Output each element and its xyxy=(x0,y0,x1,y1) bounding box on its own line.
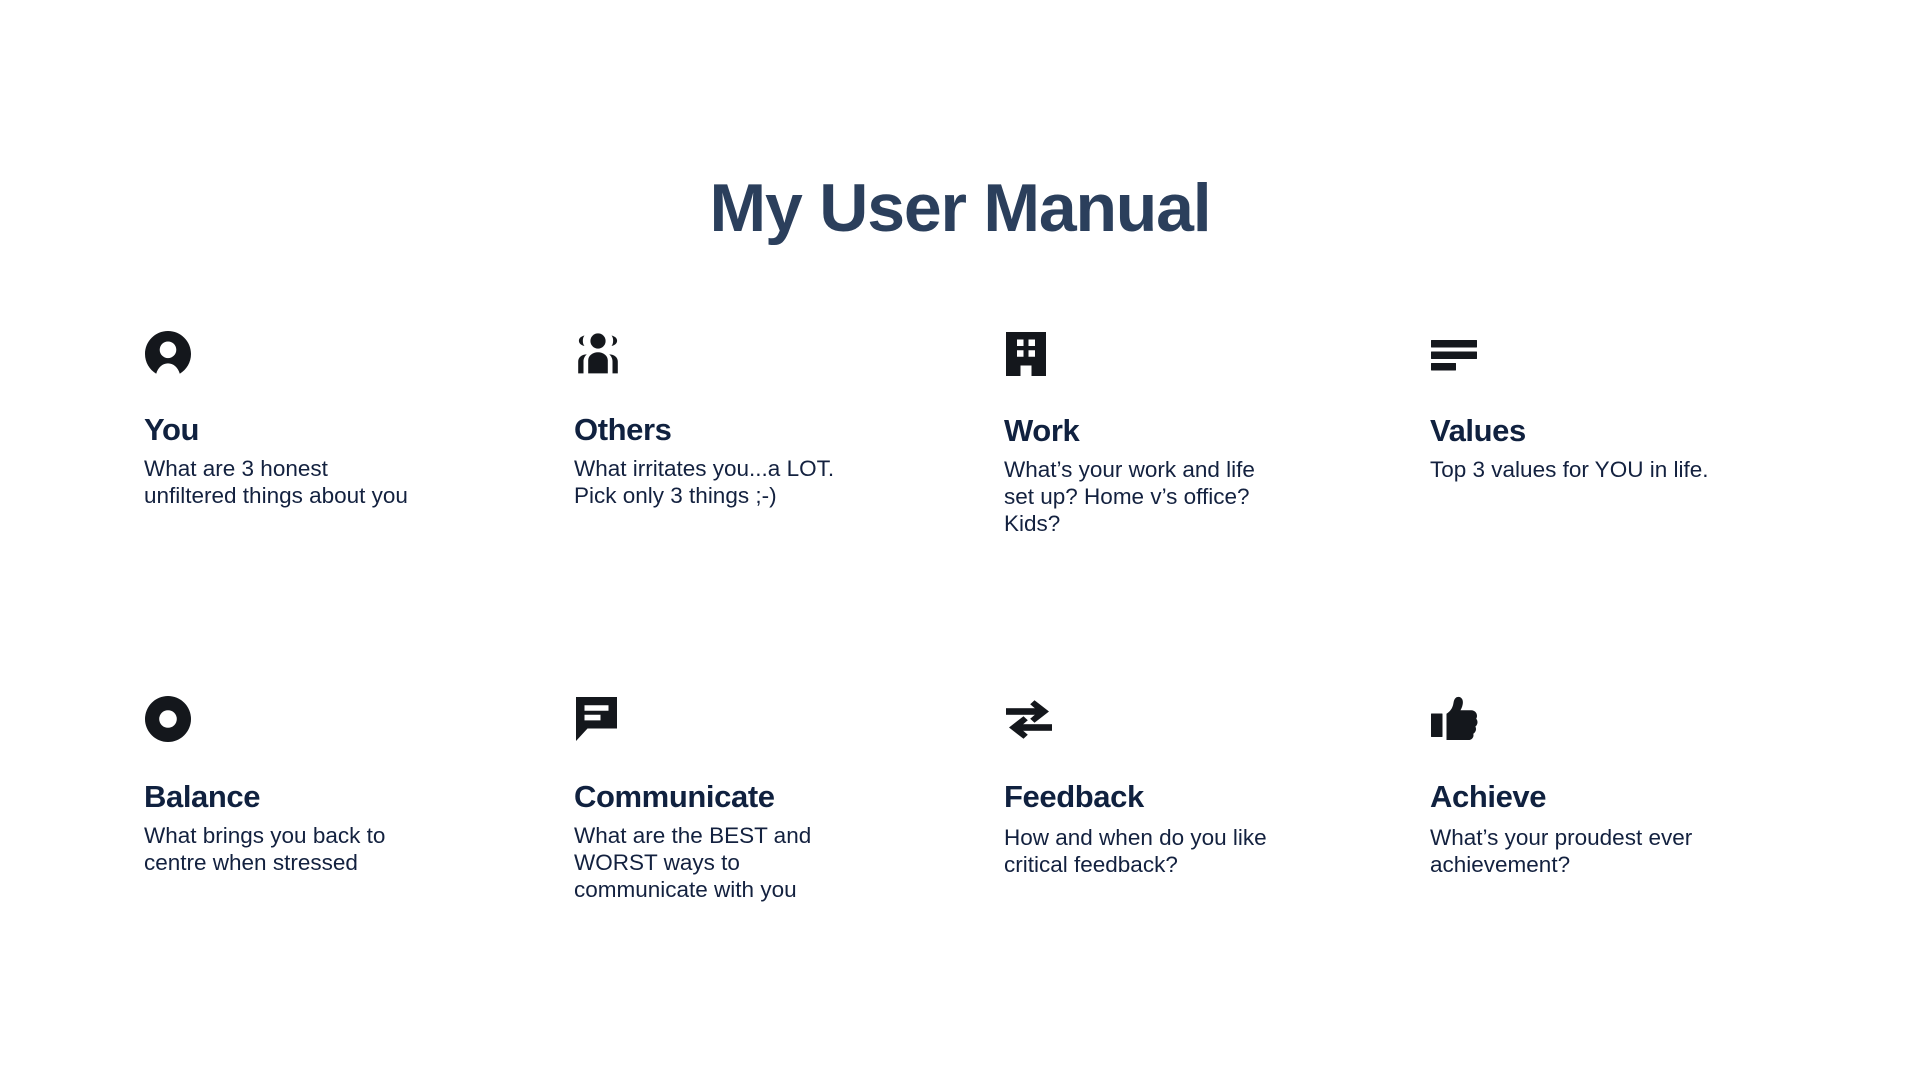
list-bars-icon xyxy=(1430,330,1804,388)
card-achieve: Achieve What’s your proudest ever achiev… xyxy=(1430,695,1804,904)
card-title: Feedback xyxy=(1004,781,1430,814)
group-people-icon xyxy=(574,330,1004,388)
building-icon xyxy=(1004,330,1430,388)
card-title: Achieve xyxy=(1430,781,1804,814)
card-you: You What are 3 honest unfiltered things … xyxy=(144,330,574,695)
card-title: Communicate xyxy=(574,781,1004,814)
card-description: Top 3 values for YOU in life. xyxy=(1430,456,1780,483)
card-communicate: Communicate What are the BEST and WORST … xyxy=(574,695,1004,904)
card-description: What are the BEST and WORST ways to comm… xyxy=(574,822,844,904)
card-feedback: Feedback How and when do you like critic… xyxy=(1004,695,1430,904)
user-manual-page: My User Manual You What are 3 honest unf… xyxy=(0,0,1920,1080)
target-bullseye-icon xyxy=(144,695,574,753)
card-balance: Balance What brings you back to centre w… xyxy=(144,695,574,904)
card-title: You xyxy=(144,414,574,447)
card-title: Balance xyxy=(144,781,574,814)
card-description: What are 3 honest unfiltered things abou… xyxy=(144,455,474,510)
exchange-arrows-icon xyxy=(1004,695,1430,753)
card-title: Others xyxy=(574,414,1004,447)
card-others: Others What irritates you...a LOT. Pick … xyxy=(574,330,1004,695)
card-description: What irritates you...a LOT. Pick only 3 … xyxy=(574,455,874,510)
card-title: Work xyxy=(1004,415,1430,448)
cards-grid: You What are 3 honest unfiltered things … xyxy=(144,330,1804,904)
card-values: Values Top 3 values for YOU in life. xyxy=(1430,330,1804,695)
card-title: Values xyxy=(1430,415,1804,448)
speech-bubble-icon xyxy=(574,695,1004,753)
card-work: Work What’s your work and life set up? H… xyxy=(1004,330,1430,695)
thumbs-up-icon xyxy=(1430,695,1804,753)
card-description: What brings you back to centre when stre… xyxy=(144,822,424,877)
card-description: What’s your proudest ever achievement? xyxy=(1430,824,1730,879)
card-description: What’s your work and life set up? Home v… xyxy=(1004,456,1304,538)
person-circle-icon xyxy=(144,330,574,388)
card-description: How and when do you like critical feedba… xyxy=(1004,824,1304,879)
page-title: My User Manual xyxy=(0,174,1920,242)
